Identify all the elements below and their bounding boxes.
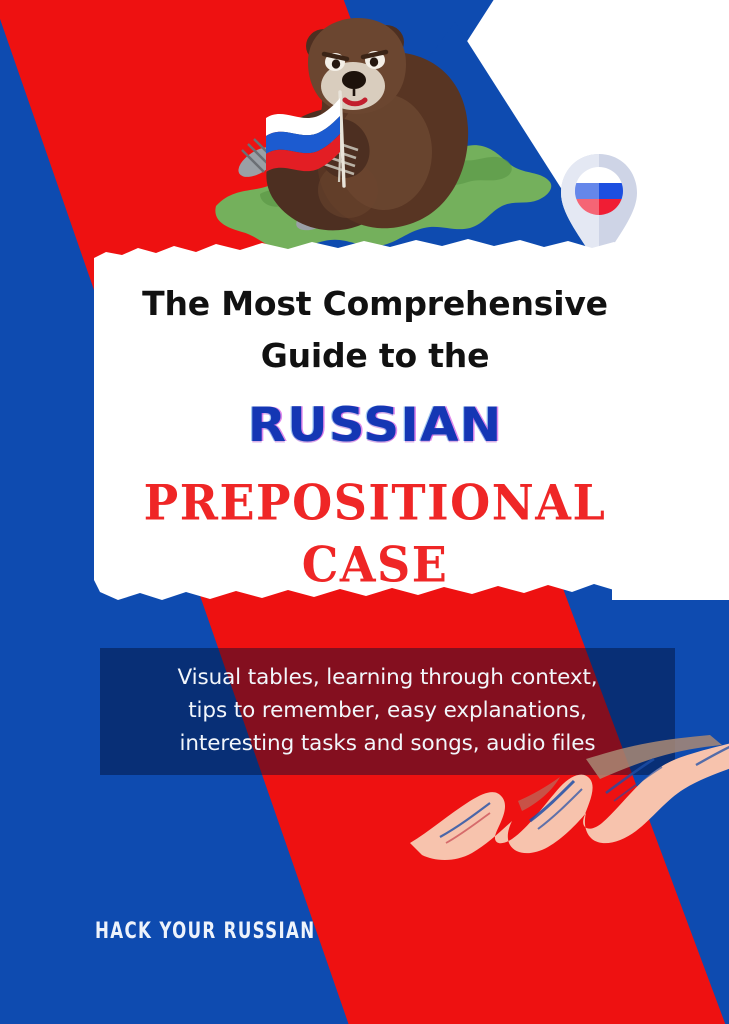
title-case-line2: CASE <box>144 534 607 596</box>
subtitle-text: Visual tables, learning through context,… <box>177 662 597 760</box>
title-word-russian: RUSSIAN <box>248 398 503 453</box>
page-title: The Most Comprehensive Guide to the <box>142 278 608 382</box>
brand-footer: HACK YOUR RUSSIAN <box>95 919 315 944</box>
title-case: PREPOSITIONAL CASE <box>144 472 607 596</box>
title-case-line1: PREPOSITIONAL <box>144 474 607 531</box>
subtitle-panel: Visual tables, learning through context,… <box>100 648 675 775</box>
book-cover: The Most Comprehensive Guide to the RUSS… <box>0 0 729 1024</box>
title-card: The Most Comprehensive Guide to the RUSS… <box>92 228 658 616</box>
